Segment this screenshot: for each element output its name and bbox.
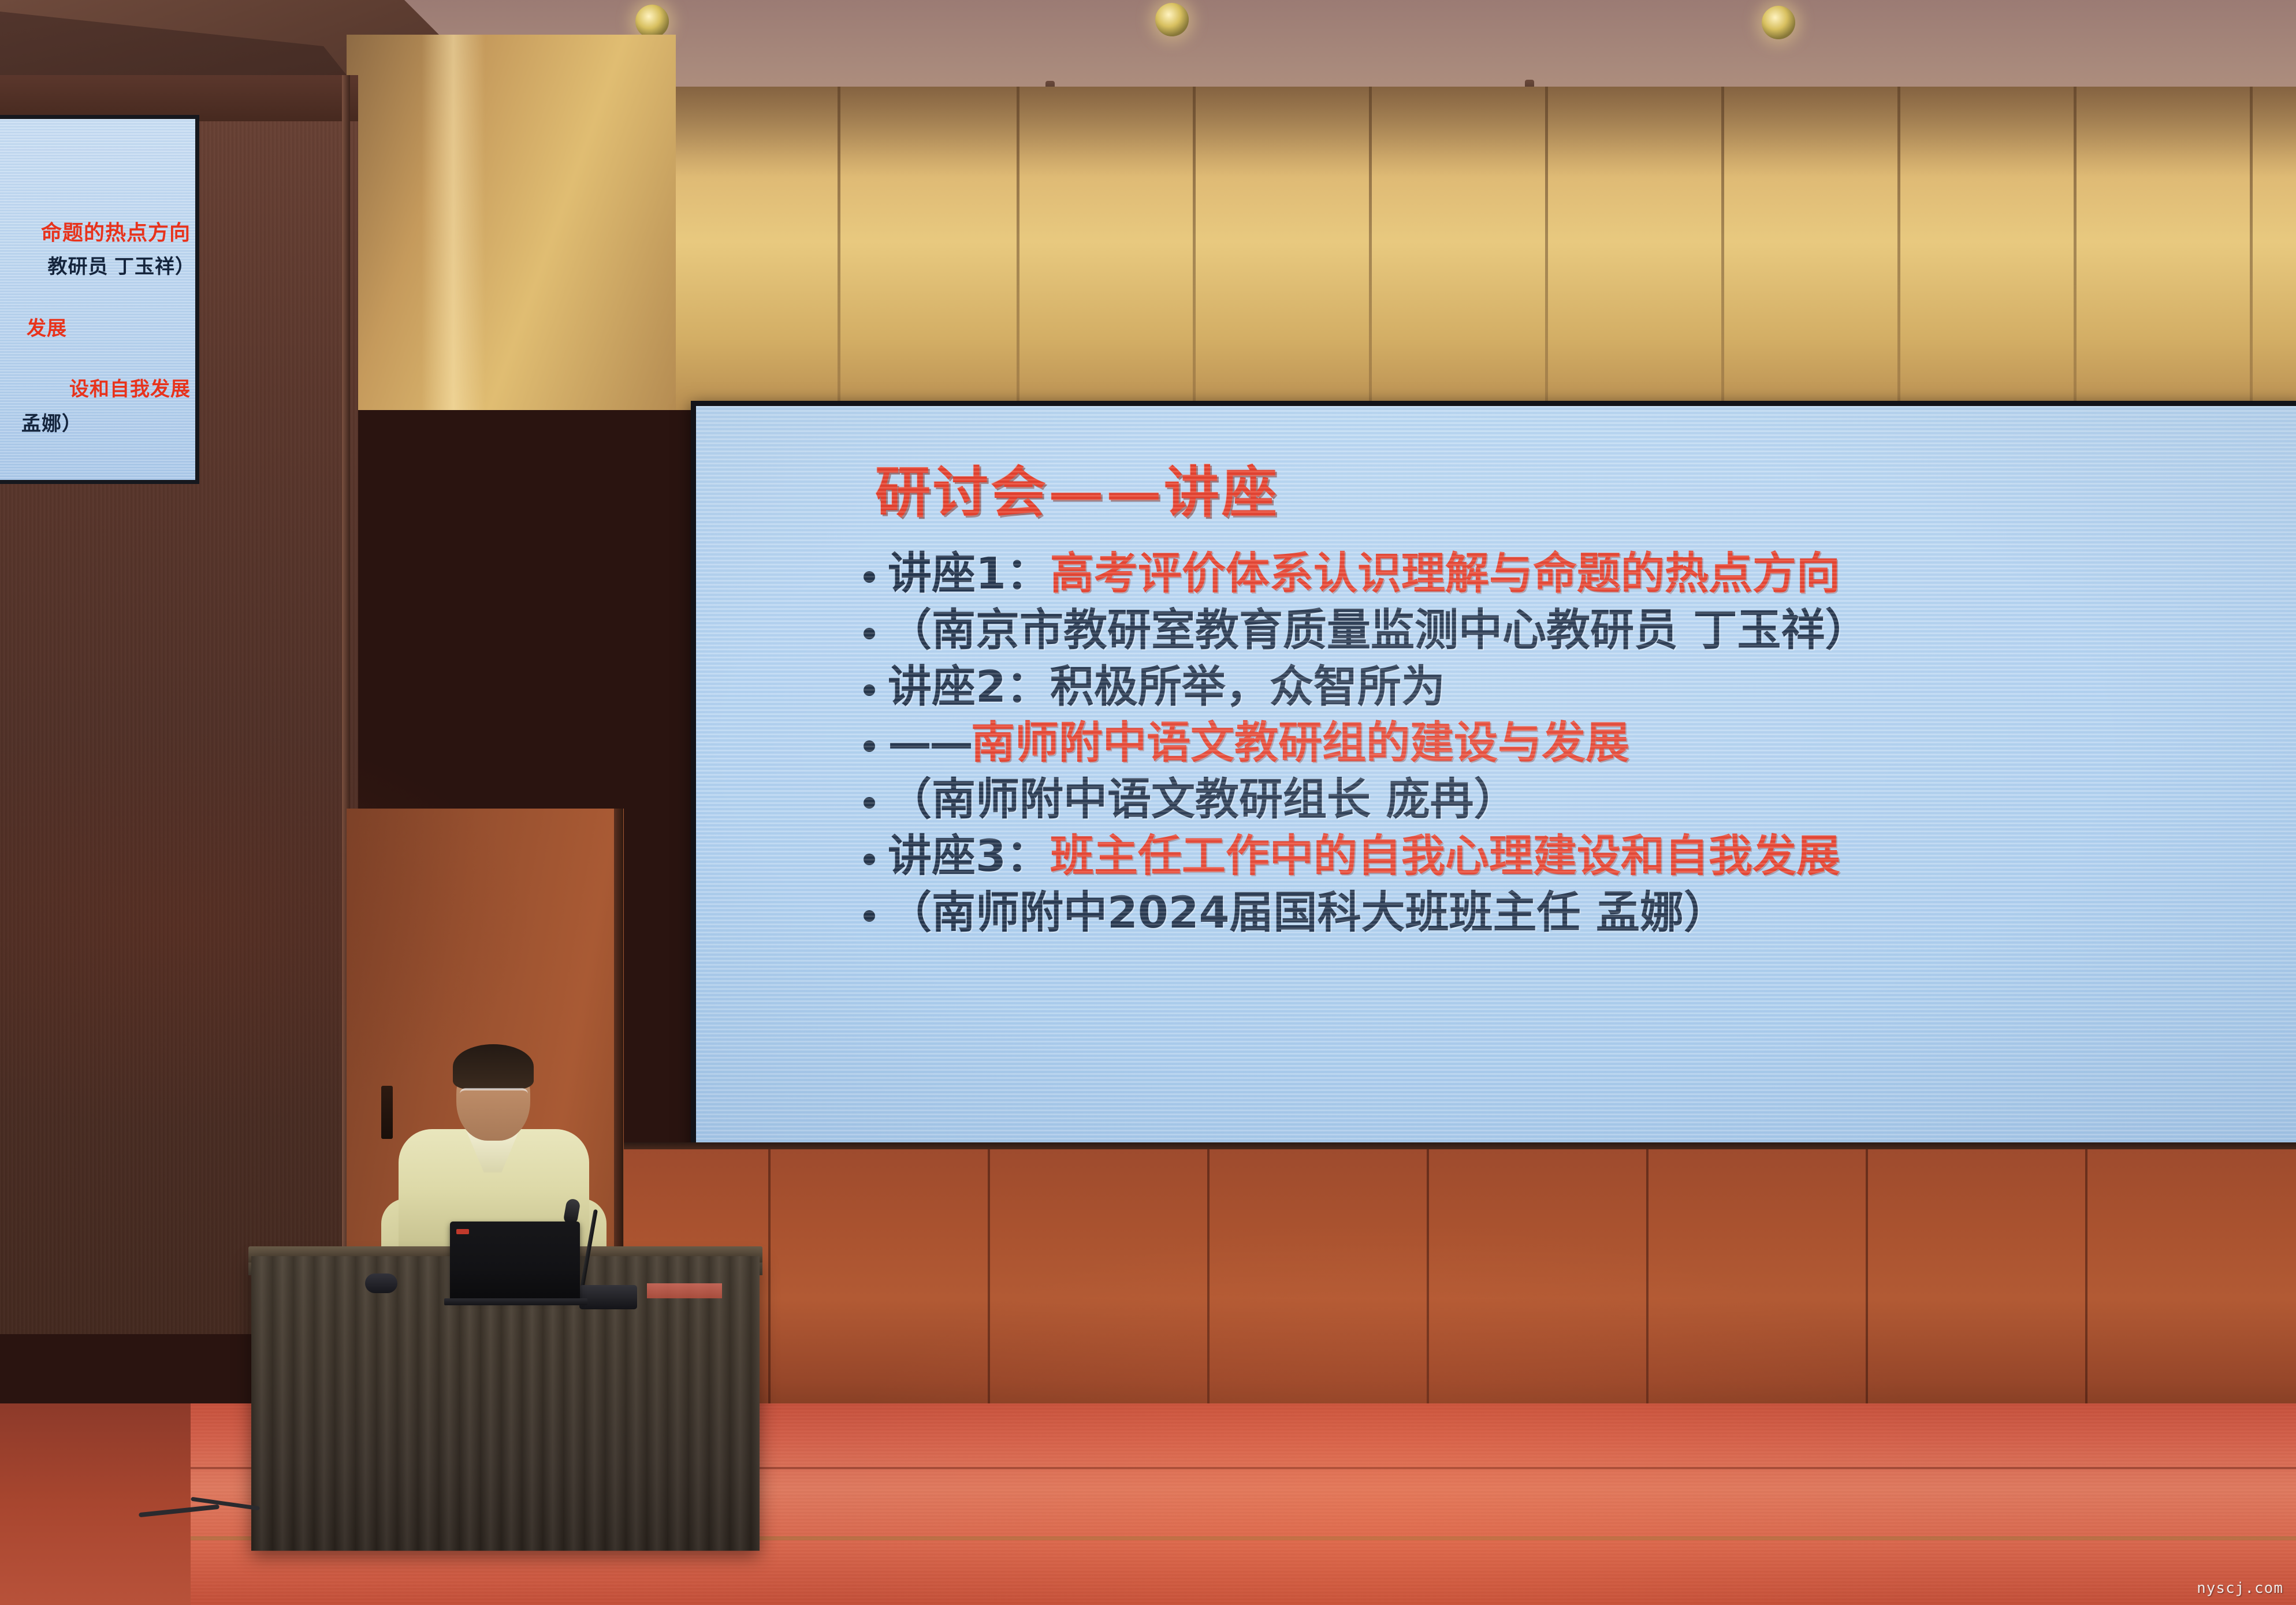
eyeglasses-icon <box>460 1088 528 1102</box>
bullet-dot-icon <box>864 910 875 922</box>
laptop-screen <box>450 1222 580 1299</box>
slide-title: 研讨会——讲座 <box>875 448 1279 528</box>
bullet-dot-icon <box>864 571 875 583</box>
bullet-label: 讲座2：积极所举，众智所为 <box>888 661 1445 712</box>
list-item: （南京市教研室教育质量监测中心教研员 丁玉祥） <box>864 607 2261 653</box>
upper-wood-wall <box>670 87 2296 410</box>
ceiling-downlight-icon <box>1155 3 1189 36</box>
list-item: 讲座2：积极所举，众智所为 <box>864 664 2261 710</box>
list-item: （南师附中语文教研组长 庞冉） <box>864 776 2261 822</box>
laptop-base <box>444 1298 587 1305</box>
list-item: ——南师附中语文教研组的建设与发展 <box>864 720 2261 766</box>
left-wall-header <box>0 75 358 121</box>
side-screen-line-4: 设和自我发展 <box>69 373 191 401</box>
list-item: （南师附中2024届国科大班班主任 孟娜） <box>864 889 2261 936</box>
bullet-emphasis: 班主任工作中的自我心理建设和自我发展 <box>1050 830 1840 881</box>
ceiling-downlight-icon <box>635 5 669 38</box>
bullet-label: 讲座1： <box>888 548 1050 599</box>
slide-bullet-list: 讲座1：高考评价体系认识理解与命题的热点方向 （南京市教研室教育质量监测中心教研… <box>864 550 2261 946</box>
speaker-hair <box>453 1044 534 1089</box>
list-item: 讲座3：班主任工作中的自我心理建设和自我发展 <box>864 833 2261 879</box>
computer-mouse-icon <box>365 1273 397 1293</box>
watermark: nyscj.com <box>2197 1580 2283 1597</box>
side-screen-line-2: 教研员 丁玉祥） <box>48 251 195 279</box>
bullet-label: （南师附中语文教研组长 庞冉） <box>888 773 1517 825</box>
bullet-label: 讲座3： <box>888 830 1050 881</box>
bullet-label: （南师附中2024届国科大班班主任 孟娜） <box>888 887 1728 938</box>
bullet-emphasis: 南师附中语文教研组的建设与发展 <box>971 717 1629 768</box>
bullet-dot-icon <box>864 740 875 752</box>
laptop-logo-icon <box>456 1229 469 1234</box>
bullet-dot-icon <box>864 628 875 639</box>
microphone-base <box>579 1285 637 1309</box>
side-screen-line-1: 命题的热点方向 <box>41 216 191 246</box>
bullet-dot-icon <box>864 854 875 865</box>
side-screen-line-3: 发展 <box>27 312 67 341</box>
upper-wall-left-column <box>347 35 676 410</box>
door-handle-icon <box>381 1086 393 1139</box>
list-item: 讲座1：高考评价体系认识理解与命题的热点方向 <box>864 550 2261 597</box>
desk-paper <box>647 1283 722 1298</box>
photo-scene: 命题的热点方向 教研员 丁玉祥） 发展 设和自我发展 孟娜） 研讨会——讲座 讲… <box>0 0 2296 1605</box>
secondary-projection-screen: 命题的热点方向 教研员 丁玉祥） 发展 设和自我发展 孟娜） <box>0 119 195 480</box>
bullet-label: （南京市教研室教育质量监测中心教研员 丁玉祥） <box>888 604 1869 656</box>
bullet-label: —— <box>888 717 971 768</box>
bullet-dot-icon <box>864 684 875 696</box>
carpet-shadow-left <box>0 1403 191 1605</box>
ceiling-downlight-icon <box>1762 6 1795 39</box>
presentation-screen: 研讨会——讲座 讲座1：高考评价体系认识理解与命题的热点方向 （南京市教研室教育… <box>696 406 2296 1157</box>
side-screen-line-5: 孟娜） <box>21 408 82 436</box>
bullet-emphasis: 高考评价体系认识理解与命题的热点方向 <box>1050 548 1840 599</box>
bullet-dot-icon <box>864 797 875 809</box>
